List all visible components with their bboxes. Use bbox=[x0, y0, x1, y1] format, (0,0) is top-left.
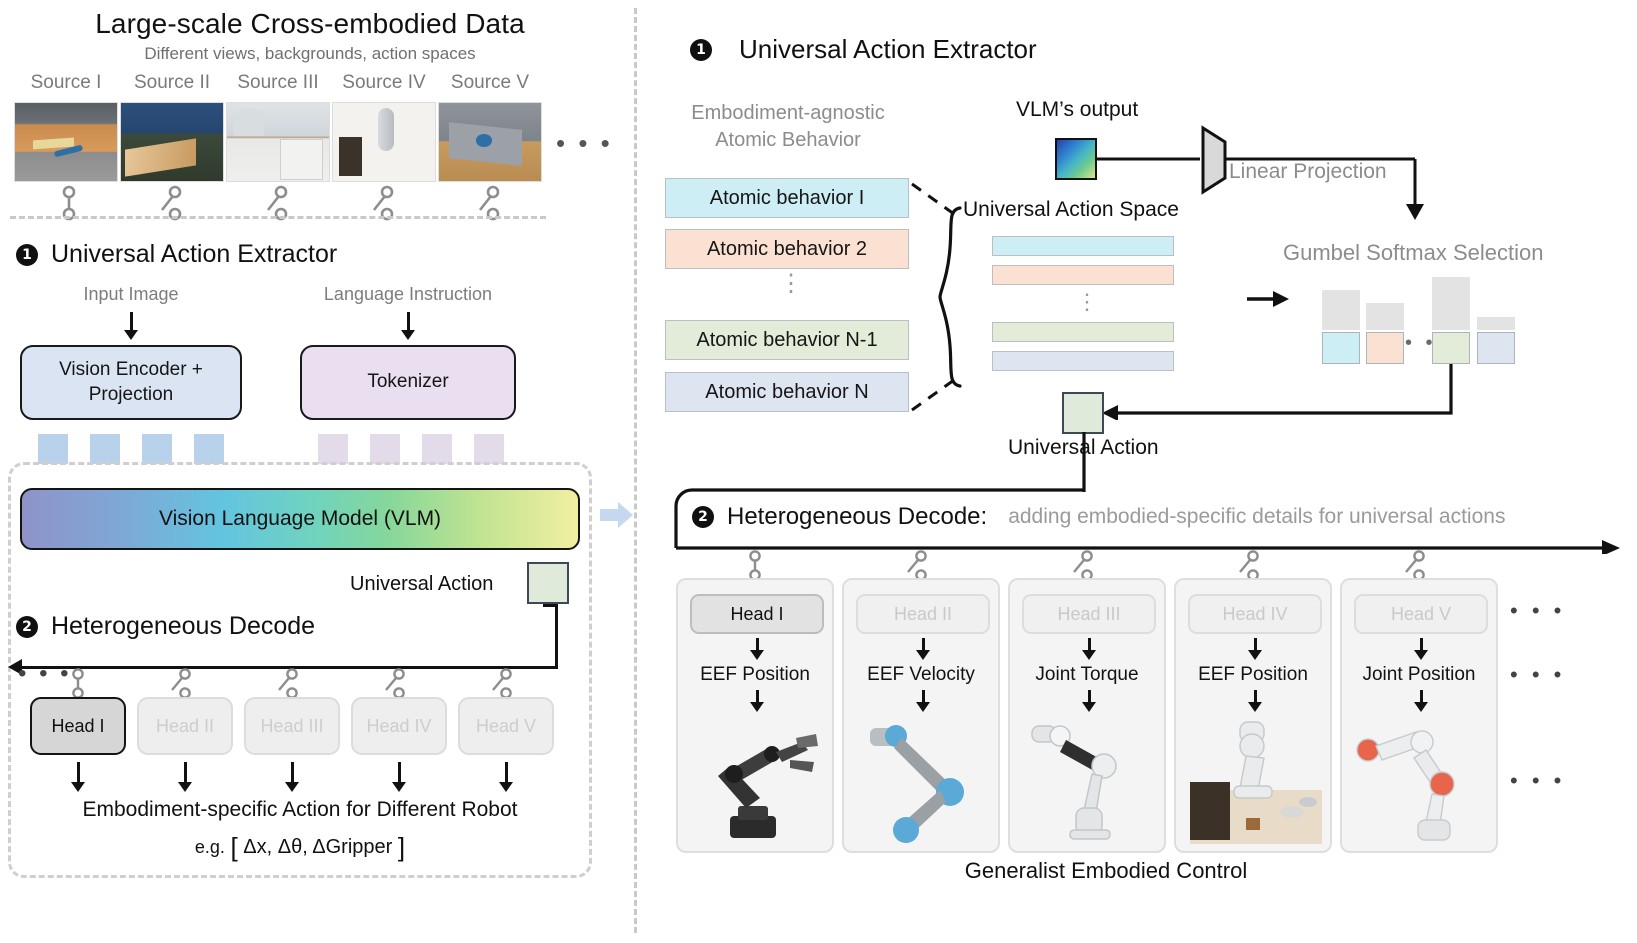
robot-card-4-mode: EEF Position bbox=[1176, 664, 1330, 686]
atomic-behavior-n[interactable]: Atomic behavior N bbox=[665, 372, 909, 412]
left-head-4[interactable]: Head IV bbox=[351, 697, 447, 755]
tokenizer-box[interactable]: Tokenizer bbox=[300, 345, 516, 420]
left-decode-bus-riser-cap bbox=[543, 604, 558, 607]
left-step2-title: Heterogeneous Decode bbox=[51, 612, 315, 641]
robot-cards-more-dots-2: • • • bbox=[1510, 662, 1565, 688]
gumbel-cell-2 bbox=[1366, 332, 1404, 364]
robot-card-5-head-label: Head V bbox=[1391, 604, 1451, 625]
robot-cards-more-dots-1: • • • bbox=[1510, 598, 1565, 624]
atomic-behavior-vertical-dots: ⋮ bbox=[779, 276, 803, 293]
left-head-2[interactable]: Head II bbox=[137, 697, 233, 755]
gumbel-logit-bar-1 bbox=[1322, 290, 1360, 330]
universal-action-label-left: Universal Action bbox=[350, 573, 493, 596]
robot-card-3-head[interactable]: Head III bbox=[1022, 594, 1156, 634]
vision-encoder-box[interactable]: Vision Encoder + Projection bbox=[20, 345, 242, 420]
vlm-output-square bbox=[1055, 138, 1097, 180]
text-token-2 bbox=[370, 434, 400, 464]
source-thumbnail-2 bbox=[120, 102, 224, 182]
robot-card-5-arrow-top bbox=[1414, 638, 1428, 660]
input-image-label: Input Image bbox=[20, 284, 242, 305]
robot-cards-more-dots-3: • • • bbox=[1510, 768, 1565, 794]
source-thumbnail-3 bbox=[226, 102, 330, 182]
left-head-3-arrow bbox=[285, 762, 299, 792]
atomic-behavior-2-label: Atomic behavior 2 bbox=[707, 238, 867, 261]
gumbel-cell-4 bbox=[1477, 332, 1515, 364]
gumbel-cell-3 bbox=[1432, 332, 1470, 364]
robot-card-1-mode: EEF Position bbox=[678, 664, 832, 686]
source-label-5: Source V bbox=[438, 72, 542, 94]
left-panel-subtitle: Different views, backgrounds, action spa… bbox=[0, 44, 620, 64]
left-head-4-label: Head IV bbox=[366, 716, 431, 737]
left-step1-title: Universal Action Extractor bbox=[51, 240, 337, 269]
embodiment-agnostic-label: Embodiment-agnostic Atomic Behavior bbox=[668, 100, 908, 154]
robot-card-3-head-label: Head III bbox=[1057, 604, 1120, 625]
panel-transition-arrow bbox=[600, 500, 634, 530]
gumbel-logit-bar-2 bbox=[1366, 303, 1404, 330]
text-token-4 bbox=[474, 434, 504, 464]
uas-row-3 bbox=[992, 322, 1174, 342]
left-head-1-label: Head I bbox=[51, 716, 104, 737]
right-step2-title: Heterogeneous Decode: bbox=[727, 503, 987, 531]
uas-vertical-dots: ⋮ bbox=[1076, 294, 1098, 311]
vision-encoder-label: Vision Encoder + Projection bbox=[59, 358, 203, 407]
left-head-3-label: Head III bbox=[260, 716, 323, 737]
robot-card-5-head[interactable]: Head V bbox=[1354, 594, 1488, 634]
left-head-5-label: Head V bbox=[476, 716, 536, 737]
robot-card-4-head-label: Head IV bbox=[1222, 604, 1287, 625]
source-thumbnail-1 bbox=[14, 102, 118, 182]
universal-action-space-brace bbox=[938, 206, 964, 388]
atomic-behavior-2[interactable]: Atomic behavior 2 bbox=[665, 229, 909, 269]
right-step1-header: 1 Universal Action Extractor bbox=[690, 34, 1037, 65]
source-label-2: Source II bbox=[120, 72, 224, 94]
robot-card-2-arrow-bottom bbox=[916, 690, 930, 712]
gumbel-logit-bar-3 bbox=[1432, 277, 1470, 330]
robot-card-3-arrow-top bbox=[1082, 638, 1096, 660]
robot-illustration-3 bbox=[1022, 720, 1156, 844]
vision-token-2 bbox=[90, 434, 120, 464]
atomic-behavior-n-label: Atomic behavior N bbox=[705, 381, 868, 404]
gumbel-input-arrow bbox=[1247, 288, 1289, 310]
tokenizer-label: Tokenizer bbox=[367, 370, 448, 395]
source-label-1: Source I bbox=[14, 72, 118, 94]
gumbel-softmax-label: Gumbel Softmax Selection bbox=[1283, 240, 1543, 266]
left-head-2-arrow bbox=[178, 762, 192, 792]
left-head-4-arrow bbox=[392, 762, 406, 792]
right-step1-title: Universal Action Extractor bbox=[739, 34, 1037, 65]
robot-card-1-head-label: Head I bbox=[730, 604, 783, 625]
left-head-1-arrow bbox=[71, 762, 85, 792]
robot-card-2-head-label: Head II bbox=[894, 604, 952, 625]
eg-open-bracket: [ bbox=[230, 832, 237, 862]
left-panel-title: Large-scale Cross-embodied Data bbox=[0, 8, 620, 40]
gumbel-to-universal-action-path bbox=[1096, 364, 1456, 420]
eg-prefix: e.g. bbox=[195, 837, 225, 857]
source-thumbnail-4 bbox=[332, 102, 436, 182]
robot-illustration-2 bbox=[856, 720, 990, 844]
source-thumbnail-5 bbox=[438, 102, 542, 182]
robot-illustration-5 bbox=[1354, 720, 1488, 844]
step-badge-1: 1 bbox=[16, 244, 38, 266]
robot-illustration-1 bbox=[690, 720, 824, 844]
vlm-bar-label: Vision Language Model (VLM) bbox=[159, 507, 441, 531]
robot-card-3-mode: Joint Torque bbox=[1010, 664, 1164, 686]
robot-card-2[interactable]: Head II EEF Velocity bbox=[842, 578, 1000, 853]
vlm-output-label: VLM’s output bbox=[1016, 98, 1138, 122]
left-decode-bus-riser bbox=[555, 604, 558, 668]
right-step-badge-1: 1 bbox=[690, 39, 712, 61]
robot-card-2-mode: EEF Velocity bbox=[844, 664, 998, 686]
atomic-behavior-n-minus-1[interactable]: Atomic behavior N-1 bbox=[665, 320, 909, 360]
atomic-behavior-1[interactable]: Atomic behavior I bbox=[665, 178, 909, 218]
left-head-5[interactable]: Head V bbox=[458, 697, 554, 755]
generalist-embodied-control-caption: Generalist Embodied Control bbox=[676, 858, 1536, 884]
robot-card-5-arrow-bottom bbox=[1414, 690, 1428, 712]
vision-token-3 bbox=[142, 434, 172, 464]
vlm-bar[interactable]: Vision Language Model (VLM) bbox=[20, 488, 580, 550]
vision-token-1 bbox=[38, 434, 68, 464]
left-head-2-label: Head II bbox=[156, 716, 214, 737]
linear-projection-label: Linear Projection bbox=[1229, 160, 1387, 184]
left-head-3[interactable]: Head III bbox=[244, 697, 340, 755]
robot-card-1-arrow-top bbox=[750, 638, 764, 660]
robot-card-3[interactable]: Head III Joint Torque bbox=[1008, 578, 1166, 853]
figure-canvas: Large-scale Cross-embodied Data Differen… bbox=[0, 0, 1637, 943]
robot-card-4-head[interactable]: Head IV bbox=[1188, 594, 1322, 634]
left-step2-header: 2 Heterogeneous Decode bbox=[16, 612, 315, 641]
left-head-5-arrow bbox=[499, 762, 513, 792]
universal-action-square-left bbox=[527, 562, 569, 604]
gumbel-cell-1 bbox=[1322, 332, 1360, 364]
robot-card-3-arrow-bottom bbox=[1082, 690, 1096, 712]
text-token-3 bbox=[422, 434, 452, 464]
robot-card-1-arrow-bottom bbox=[750, 690, 764, 712]
robot-card-1[interactable]: Head I EEF Position bbox=[676, 578, 834, 853]
robot-illustration-4 bbox=[1188, 720, 1322, 844]
embodiment-action-example: e.g. [ Δx, Δθ, ΔGripper ] bbox=[0, 832, 600, 863]
source-switch-connectors bbox=[10, 182, 550, 230]
robot-card-4[interactable]: Head IV EEF Position bbox=[1174, 578, 1332, 853]
robot-card-2-arrow-top bbox=[916, 638, 930, 660]
atomic-behavior-n-minus-1-label: Atomic behavior N-1 bbox=[696, 329, 877, 352]
uas-row-1 bbox=[992, 236, 1174, 256]
robot-card-5[interactable]: Head V Joint Position bbox=[1340, 578, 1498, 853]
source-more-dots: • • • bbox=[556, 128, 613, 159]
atomic-behavior-1-label: Atomic behavior I bbox=[710, 187, 865, 210]
source-section-separator bbox=[10, 216, 546, 219]
robot-card-4-arrow-top bbox=[1248, 638, 1262, 660]
source-label-3: Source III bbox=[226, 72, 330, 94]
vision-token-4 bbox=[194, 434, 224, 464]
right-step2-subtitle: adding embodied-specific details for uni… bbox=[1008, 505, 1505, 529]
language-instruction-arrow bbox=[401, 312, 415, 340]
left-head-1[interactable]: Head I bbox=[30, 697, 126, 755]
source-label-4: Source IV bbox=[332, 72, 436, 94]
gumbel-logit-bar-4 bbox=[1477, 317, 1515, 330]
input-image-arrow bbox=[124, 312, 138, 340]
robot-card-5-mode: Joint Position bbox=[1342, 664, 1496, 686]
robot-card-2-head[interactable]: Head II bbox=[856, 594, 990, 634]
left-step1-header: 1 Universal Action Extractor bbox=[16, 240, 337, 269]
robot-card-4-arrow-bottom bbox=[1248, 690, 1262, 712]
left-head-switches bbox=[48, 668, 548, 700]
step-badge-2: 2 bbox=[16, 616, 38, 638]
right-step2-header: 2 Heterogeneous Decode: adding embodied-… bbox=[692, 503, 1505, 531]
eg-close-bracket: ] bbox=[398, 832, 405, 862]
panel-divider bbox=[634, 8, 637, 933]
right-step-badge-2: 2 bbox=[692, 506, 714, 528]
robot-card-1-head[interactable]: Head I bbox=[690, 594, 824, 634]
uas-row-2 bbox=[992, 265, 1174, 285]
text-token-1 bbox=[318, 434, 348, 464]
universal-action-square-right bbox=[1062, 392, 1104, 434]
language-instruction-label: Language Instruction bbox=[298, 284, 518, 305]
embodiment-specific-action-text: Embodiment-specific Action for Different… bbox=[0, 798, 600, 822]
eg-body: Δx, Δθ, ΔGripper bbox=[243, 836, 392, 858]
